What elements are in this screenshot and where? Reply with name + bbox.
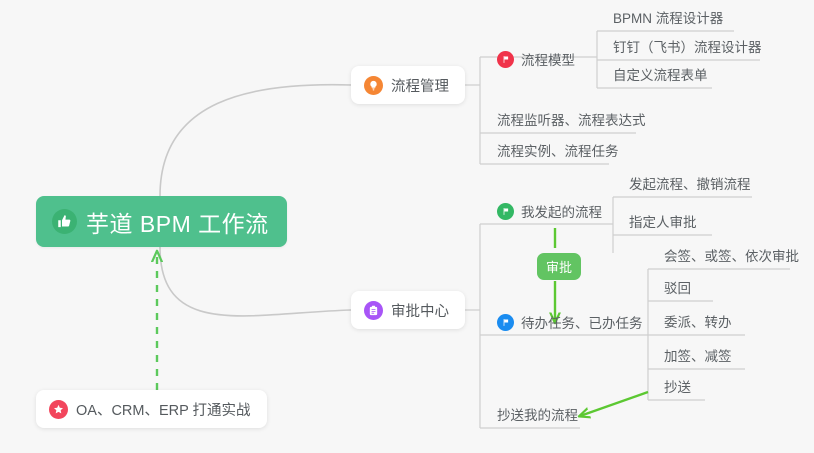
star-icon bbox=[49, 400, 68, 419]
leaf-process-model[interactable]: 流程模型 bbox=[487, 44, 585, 74]
flag-icon bbox=[497, 203, 514, 220]
leaf-dingtalk-feishu-designer[interactable]: 钉钉（飞书）流程设计器 bbox=[603, 31, 772, 61]
leaf-label-cc: 抄送 bbox=[664, 376, 691, 396]
callout-label-integration-practice: OA、CRM、ERP 打通实战 bbox=[76, 399, 251, 420]
branch-label-process-management: 流程管理 bbox=[391, 75, 449, 96]
leaf-process-listener-expression[interactable]: 流程监听器、流程表达式 bbox=[487, 104, 656, 134]
leaf-label-start-cancel-process: 发起流程、撤销流程 bbox=[629, 173, 751, 193]
leaf-label-custom-process-form: 自定义流程表单 bbox=[613, 64, 708, 84]
leaf-custom-process-form[interactable]: 自定义流程表单 bbox=[603, 59, 718, 89]
branch-node-process-management[interactable]: 流程管理 bbox=[351, 66, 465, 104]
leaf-label-cc-to-me-process: 抄送我的流程 bbox=[497, 404, 578, 424]
leaf-cc-to-me-process[interactable]: 抄送我的流程 bbox=[487, 399, 588, 429]
leaf-add-remove-sign[interactable]: 加签、减签 bbox=[654, 340, 742, 370]
leaf-label-dingtalk-feishu-designer: 钉钉（飞书）流程设计器 bbox=[613, 36, 762, 56]
branch-node-approval-center[interactable]: 审批中心 bbox=[351, 291, 465, 329]
leaf-countersign-or-sign-sequential[interactable]: 会签、或签、依次审批 bbox=[654, 240, 809, 270]
link-root-to-process-mgmt bbox=[160, 85, 351, 196]
approve-badge[interactable]: 审批 bbox=[537, 253, 581, 280]
approve-badge-label: 审批 bbox=[546, 257, 572, 276]
leaf-delegate-transfer[interactable]: 委派、转办 bbox=[654, 306, 742, 336]
branch-label-approval-center: 审批中心 bbox=[391, 300, 449, 321]
flag-icon bbox=[497, 314, 514, 331]
leaf-start-cancel-process[interactable]: 发起流程、撤销流程 bbox=[619, 168, 761, 198]
leaf-label-delegate-transfer: 委派、转办 bbox=[664, 311, 732, 331]
arrow-cc-to-my-cc bbox=[580, 392, 648, 416]
leaf-cc[interactable]: 抄送 bbox=[654, 371, 701, 401]
root-node[interactable]: 芋道 BPM 工作流 bbox=[36, 196, 287, 247]
callout-node-integration-practice[interactable]: OA、CRM、ERP 打通实战 bbox=[36, 390, 267, 428]
leaf-label-todo-done-tasks: 待办任务、已办任务 bbox=[521, 312, 643, 332]
leaf-my-initiated-process[interactable]: 我发起的流程 bbox=[487, 196, 612, 226]
leaf-label-bpmn-designer: BPMN 流程设计器 bbox=[613, 7, 723, 27]
leaf-process-instance-task[interactable]: 流程实例、流程任务 bbox=[487, 135, 629, 165]
root-label: 芋道 BPM 工作流 bbox=[86, 205, 269, 239]
leaf-bpmn-designer[interactable]: BPMN 流程设计器 bbox=[603, 2, 733, 32]
leaf-label-reject: 驳回 bbox=[664, 277, 691, 297]
lightbulb-icon bbox=[364, 76, 383, 95]
leaf-label-countersign-or-sign-sequential: 会签、或签、依次审批 bbox=[664, 245, 799, 265]
flag-icon bbox=[497, 51, 514, 68]
leaf-label-process-listener-expression: 流程监听器、流程表达式 bbox=[497, 109, 646, 129]
link-root-to-approval-center bbox=[160, 247, 351, 316]
leaf-label-add-remove-sign: 加签、减签 bbox=[664, 345, 732, 365]
leaf-label-process-instance-task: 流程实例、流程任务 bbox=[497, 140, 619, 160]
clipboard-icon bbox=[364, 301, 383, 320]
thumbs-up-icon bbox=[52, 209, 77, 234]
leaf-label-designated-approver: 指定人审批 bbox=[629, 211, 697, 231]
leaf-reject[interactable]: 驳回 bbox=[654, 272, 701, 302]
leaf-todo-done-tasks[interactable]: 待办任务、已办任务 bbox=[487, 307, 653, 337]
mindmap-canvas: 芋道 BPM 工作流 流程管理 流程模型 流程监听器、流程表达式 流程实例、流程… bbox=[0, 0, 814, 453]
leaf-label-my-initiated-process: 我发起的流程 bbox=[521, 201, 602, 221]
leaf-label-process-model: 流程模型 bbox=[521, 49, 575, 69]
leaf-designated-approver[interactable]: 指定人审批 bbox=[619, 206, 707, 236]
